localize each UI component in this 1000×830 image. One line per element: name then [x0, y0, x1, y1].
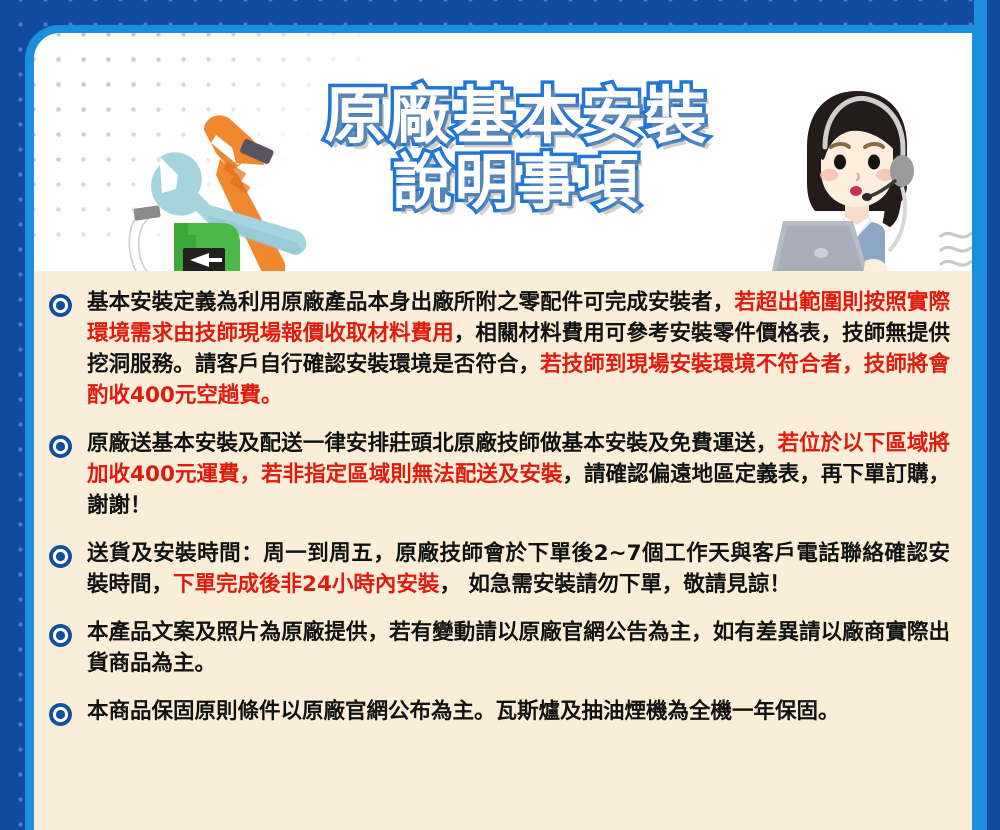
notice-text-segment: 本商品保固原則條件以原廠官網公布為主。瓦斯爐及抽油煙機為全機一年保固。	[87, 699, 840, 724]
notice-item-text: 原廠送基本安裝及配送一律安排莊頭北原廠技師做基本安裝及免費運送，若位於以下區域將…	[87, 428, 950, 521]
notice-item-text: 本產品文案及照片為原廠提供，若有變動請以原廠官網公告為主，如有差異請以廠商實際出…	[87, 617, 950, 679]
notice-item: 本商品保固原則條件以原廠官網公布為主。瓦斯爐及抽油煙機為全機一年保固。	[34, 696, 972, 727]
target-bullet-icon	[48, 434, 73, 459]
notice-text-segment: 下單完成後非24小時內安裝	[173, 572, 439, 597]
target-bullet-icon	[48, 293, 73, 318]
notice-text-segment: 原廠送基本安裝及配送一律安排莊頭北原廠技師做基本安裝及免費運送，	[87, 431, 777, 456]
right-dark-blue-strip	[987, 0, 1000, 830]
notice-item: 本產品文案及照片為原廠提供，若有變動請以原廠官網公告為主，如有差異請以廠商實際出…	[34, 617, 972, 679]
decorative-waves-icon	[939, 228, 972, 271]
notice-item-text: 基本安裝定義為利用原廠產品本身出廠所附之零配件可完成安裝者，若超出範圍則按照實際…	[87, 287, 950, 411]
target-bullet-icon	[48, 702, 73, 727]
poster-header: 原廠基本安裝 說明事項	[34, 33, 972, 271]
notice-text-segment: ， 如急需安裝請勿下單，敬請見諒！	[439, 572, 791, 597]
notice-list: 基本安裝定義為利用原廠產品本身出廠所附之零配件可完成安裝者，若超出範圍則按照實際…	[34, 271, 972, 830]
notice-text-segment: 本產品文案及照片為原廠提供，若有變動請以原廠官網公告為主，如有差異請以廠商實際出…	[87, 620, 950, 676]
title-line-2: 說明事項	[289, 153, 744, 213]
notice-item: 送貨及安裝時間：周一到周五，原廠技師會於下單後2~7個工作天與客戶電話聯絡確認安…	[34, 538, 972, 600]
title-line-1: 原廠基本安裝	[289, 85, 744, 147]
content-card: 原廠基本安裝 說明事項	[34, 33, 972, 830]
notice-item: 原廠送基本安裝及配送一律安排莊頭北原廠技師做基本安裝及免費運送，若位於以下區域將…	[34, 428, 972, 521]
poster-root: 原廠基本安裝 說明事項	[0, 0, 1000, 830]
notice-text-segment: 基本安裝定義為利用原廠產品本身出廠所附之零配件可完成安裝者，	[87, 290, 734, 315]
target-bullet-icon	[48, 544, 73, 569]
notice-item: 基本安裝定義為利用原廠產品本身出廠所附之零配件可完成安裝者，若超出範圍則按照實際…	[34, 287, 972, 411]
notice-item-text: 本商品保固原則條件以原廠官網公布為主。瓦斯爐及抽油煙機為全機一年保固。	[87, 696, 840, 727]
notice-item-text: 送貨及安裝時間：周一到周五，原廠技師會於下單後2~7個工作天與客戶電話聯絡確認安…	[87, 538, 950, 600]
customer-service-operator-illustration	[769, 85, 944, 271]
poster-title: 原廠基本安裝 說明事項	[289, 85, 744, 219]
target-bullet-icon	[48, 623, 73, 648]
right-light-blue-strip	[974, 0, 987, 830]
